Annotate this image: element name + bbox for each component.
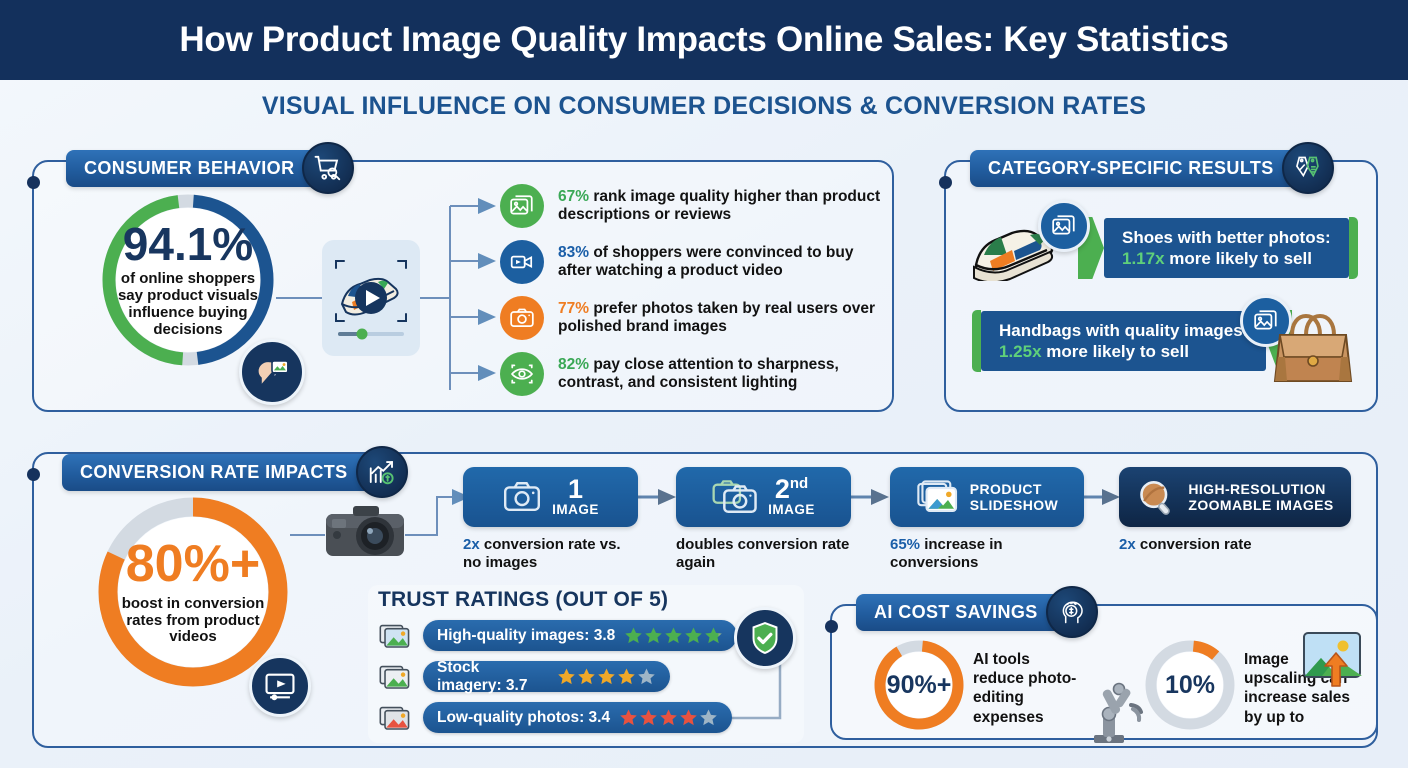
trust-row: Stock imagery: 3.7 [379, 661, 670, 692]
head-image-thought-icon [239, 339, 305, 405]
stat-pct: 77% [558, 300, 589, 317]
trust-label: Stock imagery: 3.7 [437, 659, 548, 695]
flow-step-caption-text: conversion rate vs. no images [463, 536, 621, 571]
stat-desc: of shoppers were convinced to buy after … [558, 244, 853, 279]
stat-desc: pay close attention to sharpness, contra… [558, 356, 839, 391]
image-good-icon [379, 621, 413, 651]
stat-text: 77% prefer photos taken by real users ov… [558, 300, 886, 336]
image-upscale-arrow-icon [1301, 630, 1363, 688]
trust-pill[interactable]: High-quality images: 3.8 [423, 620, 737, 651]
category-multiplier: 1.25x [999, 342, 1042, 361]
category-line1: Shoes with better photos: [1122, 227, 1331, 248]
flow-step-caption: 65% increase in conversions [890, 536, 1084, 572]
flow-step-box[interactable]: HIGH-RESOLUTION ZOOMABLE IMAGES [1119, 467, 1351, 527]
stat-row: 67% rank image quality higher than produ… [500, 184, 886, 228]
category-bar-text: Handbags with quality images: 1.25x more… [981, 311, 1266, 372]
photos-stack-icon [1038, 200, 1090, 252]
flow-step-caption-hl: 2x [463, 536, 480, 553]
panel-title-category-results: CATEGORY-SPECIFIC RESULTS [970, 150, 1320, 187]
category-bar-shoes: Shoes with better photos: 1.17x more lik… [1078, 217, 1358, 279]
flow-step-caption-text: conversion rate [1136, 536, 1252, 553]
star-rating [624, 626, 723, 645]
stat-text: 67% rank image quality higher than produ… [558, 188, 886, 224]
panel-title-conversion-impacts: CONVERSION RATE IMPACTS [62, 454, 394, 491]
trust-row: High-quality images: 3.8 [379, 620, 737, 651]
panel-header-consumer-behavior: CONSUMER BEHAVIOR [66, 142, 354, 194]
eye-focus-icon [500, 352, 544, 396]
flow-step-3: PRODUCT SLIDESHOW 65% increase in conver… [890, 467, 1084, 572]
shopping-cart-search-icon [302, 142, 354, 194]
category-multiplier: 1.17x [1122, 249, 1165, 268]
category-line1: Handbags with quality images: [999, 320, 1248, 341]
shield-check-icon [734, 607, 796, 669]
donut-center-upscaling: 10% [1143, 638, 1237, 732]
growth-chart-money-icon [356, 446, 408, 498]
donut-center-ai-savings: 90%+ [872, 638, 966, 732]
donut-consumer-visuals: 94.1% of online shoppers say product vis… [98, 190, 278, 370]
page-title: How Product Image Quality Impacts Online… [179, 20, 1228, 60]
trust-label: Low-quality photos: 3.4 [437, 709, 610, 727]
stat-text: 82% pay close attention to sharpness, co… [558, 356, 886, 392]
category-bar-edge [972, 310, 981, 372]
photos-stack-icon [916, 479, 960, 515]
panel-anchor-dot [939, 176, 952, 189]
flow-step-4: HIGH-RESOLUTION ZOOMABLE IMAGES 2x conve… [1119, 467, 1351, 554]
double-camera-outline-icon [712, 480, 758, 514]
stat-row: 77% prefer photos taken by real users ov… [500, 296, 886, 340]
category-line2: more likely to sell [1169, 249, 1312, 268]
stat-pct: 67% [558, 188, 589, 205]
price-tags-icon [1282, 142, 1334, 194]
stat-row: 83% of shoppers were convinced to buy af… [500, 240, 886, 284]
panel-header-ai-cost-savings: AI COST SAVINGS [856, 586, 1098, 638]
stat-desc: rank image quality higher than product d… [558, 188, 880, 223]
trust-row: Low-quality photos: 3.4 [379, 702, 732, 733]
image-bad-icon [379, 703, 413, 733]
camera-icon [500, 296, 544, 340]
stat-pct: 83% [558, 244, 589, 261]
flow-step-box[interactable]: PRODUCT SLIDESHOW [890, 467, 1084, 527]
flow-step-caption: doubles conversion rate again [676, 536, 851, 572]
panel-anchor-dot [825, 620, 838, 633]
flow-step-box[interactable]: 1 IMAGE [463, 467, 638, 527]
panel-anchor-dot [27, 468, 40, 481]
category-line2: more likely to sell [1046, 342, 1189, 361]
flow-step-box[interactable]: 2nd IMAGE [676, 467, 851, 527]
donut-value-80: 80%+ [126, 538, 260, 590]
donut-value-10: 10% [1165, 673, 1215, 698]
dslr-camera-icon [323, 500, 407, 564]
trust-label: High-quality images: 3.8 [437, 627, 615, 645]
page-subtitle: VISUAL INFLUENCE ON CONSUMER DECISIONS &… [0, 92, 1408, 121]
star-rating [619, 708, 718, 727]
flow-step-number: 1 [552, 477, 599, 503]
robot-arm-icon [1080, 673, 1148, 745]
stat-row: 82% pay close attention to sharpness, co… [500, 352, 886, 396]
donut-value-90: 90%+ [887, 673, 952, 698]
trust-ratings-title: TRUST RATINGS (OUT OF 5) [378, 588, 668, 612]
header-bar: How Product Image Quality Impacts Online… [0, 0, 1408, 80]
stat-desc: prefer photos taken by real users over p… [558, 300, 875, 335]
media-preview-card[interactable] [322, 240, 420, 356]
trust-pill[interactable]: Low-quality photos: 3.4 [423, 702, 732, 733]
donut-center-consumer: 94.1% of online shoppers say product vis… [98, 190, 278, 370]
ai-head-dollar-icon [1046, 586, 1098, 638]
donut-ai-savings: 90%+ [872, 638, 966, 732]
donut-caption-consumer: of online shoppers say product visuals i… [113, 271, 263, 338]
flow-step-number: 2nd [768, 477, 815, 503]
flow-step-2: 2nd IMAGE doubles conversion rate again [676, 467, 851, 572]
stat-pct: 82% [558, 356, 589, 373]
panel-title-consumer-behavior: CONSUMER BEHAVIOR [66, 150, 340, 187]
flow-step-1: 1 IMAGE 2x conversion rate vs. no images [463, 467, 638, 572]
flow-step-word: IMAGE [768, 502, 815, 517]
flow-step-caption-hl: 2x [1119, 536, 1136, 553]
panel-header-category-results: CATEGORY-SPECIFIC RESULTS [970, 142, 1334, 194]
flow-step-label: PRODUCT SLIDESHOW [970, 481, 1058, 513]
flow-step-word: IMAGE [552, 502, 599, 517]
category-bar-edge [1349, 217, 1358, 279]
panel-header-conversion-impacts: CONVERSION RATE IMPACTS [62, 446, 408, 498]
flow-step-caption-text: doubles conversion rate again [676, 536, 849, 571]
magnifier-zoom-icon [1136, 479, 1178, 515]
donut-value-941: 94.1% [123, 221, 253, 267]
video-play-icon [249, 655, 311, 717]
category-bar-text: Shoes with better photos: 1.17x more lik… [1104, 218, 1349, 279]
donut-caption-conversion: boost in conversion rates from product v… [115, 596, 271, 646]
photos-stack-icon [500, 184, 544, 228]
panel-anchor-dot [27, 176, 40, 189]
flow-step-caption: 2x conversion rate [1119, 536, 1351, 554]
flow-step-caption-hl: 65% [890, 536, 920, 553]
trust-pill[interactable]: Stock imagery: 3.7 [423, 661, 670, 692]
star-rating [557, 667, 656, 686]
donut-image-upscaling: 10% [1143, 638, 1237, 732]
handbag-icon [1270, 305, 1356, 387]
video-camera-icon [500, 240, 544, 284]
image-stock-icon [379, 662, 413, 692]
stat-text: 83% of shoppers were convinced to buy af… [558, 244, 886, 280]
flow-step-label: HIGH-RESOLUTION ZOOMABLE IMAGES [1188, 481, 1333, 513]
ai-savings-text: AI tools reduce photo-editing expenses [973, 650, 1081, 727]
flow-step-caption: 2x conversion rate vs. no images [463, 536, 638, 572]
camera-outline-icon [502, 481, 542, 513]
